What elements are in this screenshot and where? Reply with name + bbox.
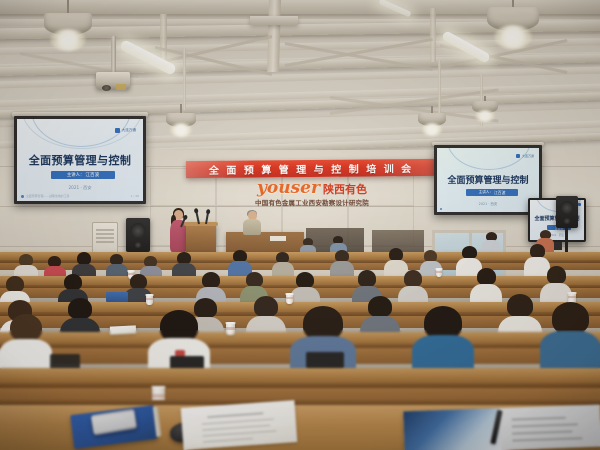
photo-scene: 全 面 预 算 管 理 与 控 制 培 训 会 youser 陕西有色 中国有色… xyxy=(0,0,600,450)
slide-title-right: 全面预算管理与控制 xyxy=(437,173,539,186)
slide-title: 全面预算管理与控制 xyxy=(17,152,143,168)
paper-cup xyxy=(436,268,442,277)
slide-footer: 全面预算管理——战略落地的工具 1 / 48 xyxy=(17,194,143,198)
slide-date-right: 2021 · 西安 xyxy=(437,201,539,206)
presenter-name-right: 江百波 xyxy=(494,190,505,196)
pendant-dome-lamp xyxy=(418,106,446,140)
paper-cup xyxy=(146,294,153,305)
attendee xyxy=(0,314,52,372)
handout-paper xyxy=(110,325,136,334)
pendant-dome-lamp xyxy=(487,0,539,60)
slide-logo-right: 大连万通 xyxy=(516,154,534,158)
pendant-dome-lamp xyxy=(44,0,92,58)
red-event-banner: 全 面 预 算 管 理 与 控 制 培 训 会 xyxy=(186,159,436,178)
projection-screen-right[interactable]: 大连万通 全面预算管理与控制 主讲人： 江百波 2021 · 西安 1 / 48 xyxy=(434,145,542,215)
attendee xyxy=(412,306,474,370)
desk-front-edge xyxy=(0,400,600,405)
slide-date: 2021 · 西安 xyxy=(17,185,143,191)
presenter-label: 主讲人： xyxy=(67,172,85,178)
paper-cup xyxy=(226,322,235,335)
organization-logo-block: youser 陕西有色 中国有色金属工业西安勘察设计研究院 xyxy=(232,180,392,207)
handout-paper[interactable] xyxy=(181,400,298,450)
brand-cn-label: 陕西有色 xyxy=(323,184,367,195)
slide-footer-right: 1 / 48 xyxy=(131,194,139,198)
blue-basket xyxy=(106,292,128,302)
presenter-label-right: 主讲人： xyxy=(479,190,493,195)
head-table-paper xyxy=(270,236,286,241)
institute-name: 中国有色金属工业西安勘察设计研究院 xyxy=(232,200,392,207)
attendee xyxy=(540,302,600,370)
pa-speaker-left xyxy=(126,218,150,252)
slide-logo-text-right: 大连万通 xyxy=(522,154,534,158)
presenter-name: 江百波 xyxy=(85,172,99,178)
slide-logo-monitor xyxy=(578,203,581,206)
slide-footer-left: 全面预算管理——战略落地的工具 xyxy=(26,194,69,198)
slide-footer-right-bar: 1 / 48 xyxy=(437,207,539,210)
chair xyxy=(306,352,344,368)
pendant-dome-lamp xyxy=(472,96,498,128)
youser-wordmark: youser xyxy=(257,180,320,197)
slide-left: 大连万通 全面预算管理与控制 主讲人： 江百波 2021 · 西安 全面预算管理… xyxy=(17,119,143,201)
seated-official xyxy=(242,210,262,234)
pa-speaker-right xyxy=(556,196,578,228)
slide-right: 大连万通 全面预算管理与控制 主讲人： 江百波 2021 · 西安 1 / 48 xyxy=(437,148,539,212)
pendant-dome-lamp xyxy=(166,104,196,140)
podium xyxy=(186,222,216,256)
projection-screen-left[interactable]: 大连万通 全面预算管理与控制 主讲人： 江百波 2021 · 西安 全面预算管理… xyxy=(14,116,146,204)
paper-cup xyxy=(286,293,293,304)
slide-logo-text: 大连万通 xyxy=(122,128,136,133)
slide-presenter-badge-right: 主讲人： 江百波 xyxy=(466,189,518,196)
slide-presenter-badge: 主讲人： 江百波 xyxy=(51,171,115,179)
slide-logo: 大连万通 xyxy=(115,128,136,133)
ceiling-projector xyxy=(96,36,130,98)
